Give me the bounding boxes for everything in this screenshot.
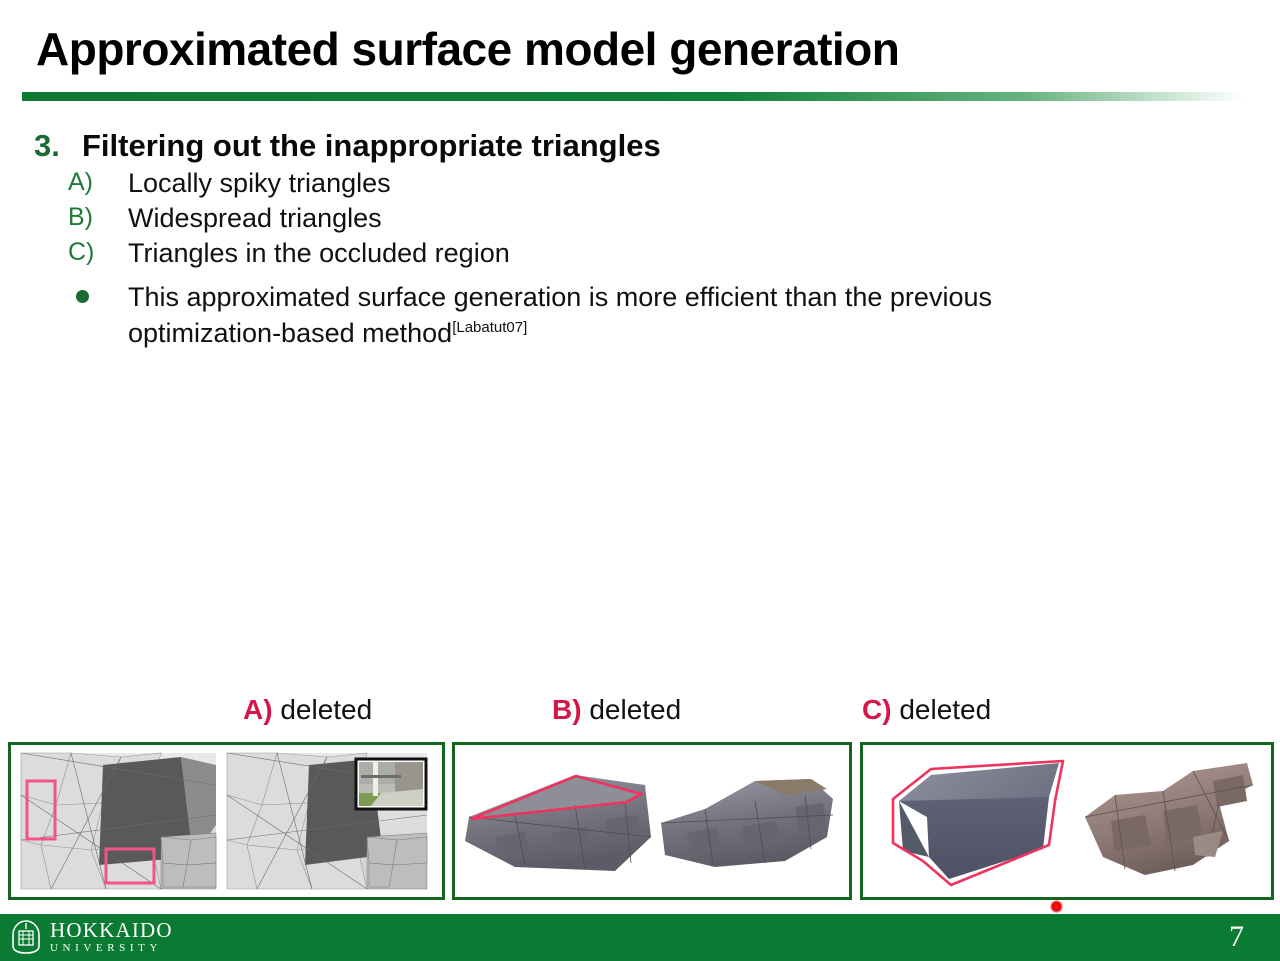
citation-label: [Labatut07] — [452, 319, 527, 336]
outline-item-c: C) Triangles in the occluded region — [68, 238, 1234, 269]
caption-a-word: deleted — [280, 694, 372, 725]
outline-heading-marker: 3. — [34, 128, 82, 164]
footer-bar: HOKKAIDO UNIVERSITY 7 — [0, 914, 1280, 961]
bullet-dot-icon — [68, 279, 128, 313]
page-number: 7 — [1229, 920, 1244, 954]
outline-summary: This approximated surface generation is … — [68, 279, 1234, 352]
slide-root: Approximated surface model generation 3.… — [0, 0, 1280, 961]
pipeline-diagram: H′ — [0, 420, 1280, 710]
outline-item-a: A) Locally spiky triangles — [68, 168, 1234, 199]
caption-a: A) deleted — [243, 694, 372, 726]
result-panel-c — [860, 742, 1274, 900]
outline-summary-text: This approximated surface generation is … — [128, 279, 1148, 352]
outline-item-c-marker: C) — [68, 238, 128, 267]
outline-item-c-text: Triangles in the occluded region — [128, 238, 510, 269]
outline-item-a-text: Locally spiky triangles — [128, 168, 391, 199]
title-underline-bar — [22, 92, 1244, 101]
outline-item-a-marker: A) — [68, 168, 128, 197]
university-logo: HOKKAIDO UNIVERSITY — [10, 920, 173, 954]
photo-inset — [356, 759, 426, 809]
caption-a-letter: A) — [243, 694, 273, 725]
hokkaido-crest-icon — [10, 920, 42, 954]
caption-c-letter: C) — [862, 694, 892, 725]
laser-pointer-dot — [1050, 900, 1063, 913]
result-panel-a — [8, 742, 445, 900]
result-panel-b — [452, 742, 852, 900]
outline-item-b-text: Widespread triangles — [128, 203, 382, 234]
logo-university-name: HOKKAIDO — [50, 920, 173, 941]
outline-heading: 3. Filtering out the inappropriate trian… — [34, 128, 1234, 164]
outline-list: 3. Filtering out the inappropriate trian… — [34, 128, 1234, 352]
caption-c: C) deleted — [862, 694, 991, 726]
outline-heading-text: Filtering out the inappropriate triangle… — [82, 128, 661, 164]
mesh-render-a-right — [227, 753, 427, 889]
outline-item-b-marker: B) — [68, 203, 128, 232]
caption-b-letter: B) — [552, 694, 582, 725]
mesh-render-a-left — [21, 753, 216, 889]
logo-university-sub: UNIVERSITY — [50, 943, 173, 954]
caption-c-word: deleted — [899, 694, 991, 725]
caption-b: B) deleted — [552, 694, 681, 726]
outline-item-b: B) Widespread triangles — [68, 203, 1234, 234]
page-title: Approximated surface model generation — [36, 22, 899, 76]
outline-summary-body: This approximated surface generation is … — [128, 282, 992, 348]
caption-b-word: deleted — [589, 694, 681, 725]
